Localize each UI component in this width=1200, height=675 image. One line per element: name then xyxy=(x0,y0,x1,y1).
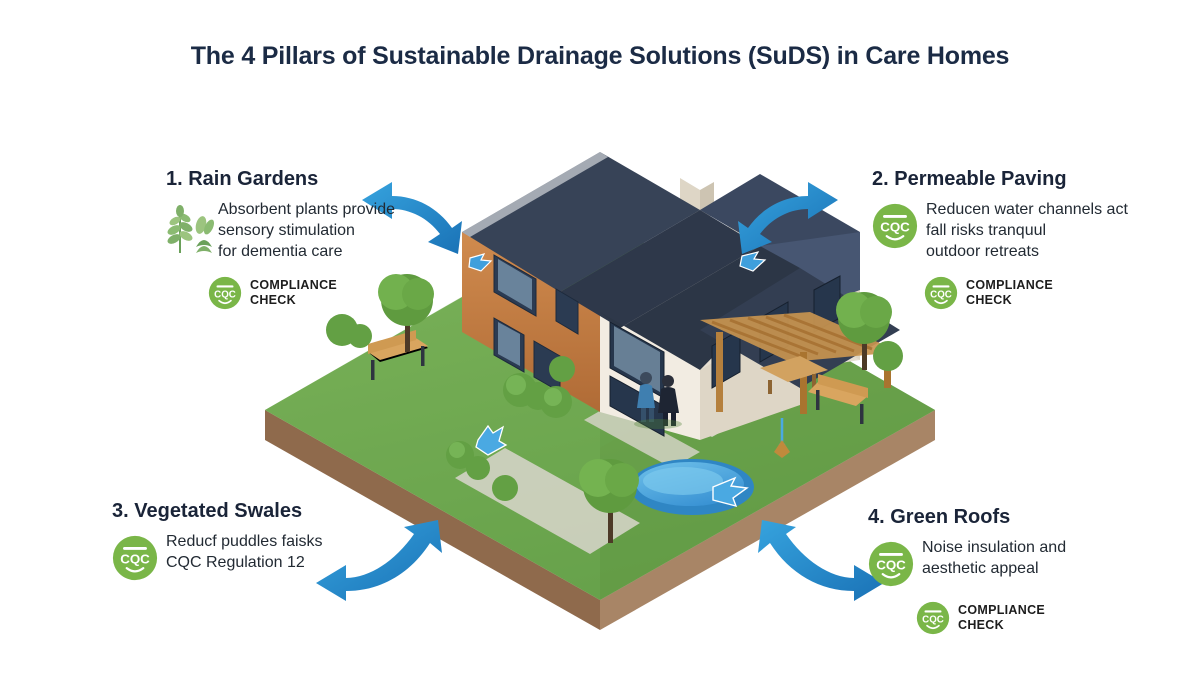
cqc-badge-icon: CQC xyxy=(872,203,918,249)
pillar-vegetated-swales[interactable]: 3. Vegetated Swales CQC Reducf puddles f… xyxy=(112,500,412,581)
pillar-rain-gardens[interactable]: 1. Rain Gardens xyxy=(166,168,434,310)
pergola xyxy=(700,312,900,414)
cqc-badge-text: CQC xyxy=(214,290,236,301)
pond xyxy=(630,459,754,515)
person-right xyxy=(658,375,679,426)
compliance-check-badge[interactable]: CQC COMPLIANCE CHECK xyxy=(916,601,1168,635)
pillar-description: Reducen water channels act fall risks tr… xyxy=(926,199,1128,262)
page-title: The 4 Pillars of Sustainable Drainage So… xyxy=(0,42,1200,71)
cqc-badge-icon: CQC xyxy=(924,276,958,310)
pillar-heading: 3. Vegetated Swales xyxy=(112,500,412,523)
cqc-badge-icon: CQC xyxy=(916,601,950,635)
bush-highlight xyxy=(449,375,562,458)
compliance-check-badge[interactable]: CQC COMPLIANCE CHECK xyxy=(924,276,1172,310)
arrow-path-marker xyxy=(476,426,506,455)
garden-bench xyxy=(808,374,868,424)
cqc-badge-text: CQC xyxy=(120,552,150,567)
garden-pathway xyxy=(455,355,742,554)
compliance-label: COMPLIANCE CHECK xyxy=(966,278,1053,308)
water-marker xyxy=(469,252,765,271)
cqc-badge-icon: CQC xyxy=(868,541,914,587)
pillar-heading: 1. Rain Gardens xyxy=(166,168,434,191)
residents xyxy=(634,372,682,429)
compliance-label: COMPLIANCE CHECK xyxy=(250,278,337,308)
cqc-badge-text: CQC xyxy=(930,290,952,301)
water-downpipe xyxy=(774,418,790,458)
pillar-permeable-paving[interactable]: 2. Permeable Paving CQC Reducen water ch… xyxy=(872,168,1172,310)
tree xyxy=(579,459,639,543)
cqc-badge-text: CQC xyxy=(880,220,910,235)
pillar-description: Noise insulation and aesthetic appeal xyxy=(922,537,1066,579)
leaf-plant-icon xyxy=(166,203,214,255)
arrow-top-right xyxy=(738,182,838,254)
garden-bench xyxy=(368,330,428,380)
pillar-heading: 4. Green Roofs xyxy=(868,506,1168,529)
pillar-description: Absorbent plants provide sensory stimula… xyxy=(218,199,395,262)
arrow-bottom-right xyxy=(758,520,884,601)
infographic-canvas: The 4 Pillars of Sustainable Drainage So… xyxy=(0,0,1200,675)
cqc-badge-icon: CQC xyxy=(112,535,158,581)
pillar-heading: 2. Permeable Paving xyxy=(872,168,1172,191)
house-windows xyxy=(494,255,578,392)
person-left xyxy=(637,372,655,422)
care-home-house xyxy=(462,152,900,440)
cqc-badge-text: CQC xyxy=(876,558,906,573)
bush xyxy=(326,314,903,501)
compliance-label: COMPLIANCE CHECK xyxy=(958,603,1045,633)
compliance-check-badge[interactable]: CQC COMPLIANCE CHECK xyxy=(208,276,434,310)
pillar-green-roofs[interactable]: 4. Green Roofs CQC Noise insulation and … xyxy=(868,506,1168,635)
cqc-badge-icon: CQC xyxy=(208,276,242,310)
pillar-description: Reducf puddles faisks CQC Regulation 12 xyxy=(166,531,323,573)
cqc-badge-text: CQC xyxy=(922,614,944,625)
